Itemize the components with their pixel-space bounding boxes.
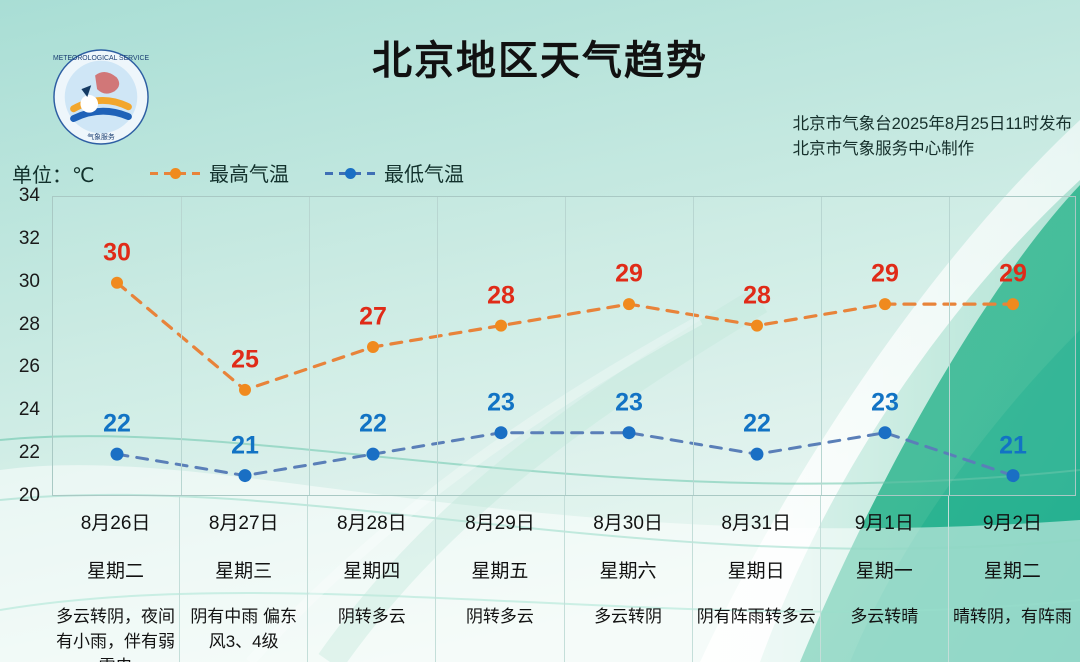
y-axis-tick: 20	[19, 485, 40, 507]
data-point-low	[239, 469, 252, 482]
y-axis-tick: 30	[19, 271, 40, 293]
vertical-gridline	[821, 197, 822, 495]
unit-label: 单位：℃	[12, 159, 94, 188]
data-label-high: 29	[871, 260, 899, 289]
data-point-low	[111, 448, 124, 461]
data-point-low	[751, 448, 764, 461]
chart-plot-area: 30252728292829292221222323222321	[52, 196, 1076, 496]
svg-text:气象服务: 气象服务	[87, 132, 115, 141]
legend-label-low: 最低气温	[384, 158, 464, 187]
legend-item-low: 最低气温	[325, 158, 464, 187]
data-point-high	[367, 341, 379, 353]
forecast-column: 9月1日星期一多云转晴	[821, 496, 949, 662]
data-label-high: 30	[103, 238, 131, 267]
y-axis: 2022242628303234	[0, 196, 48, 496]
data-label-low: 22	[359, 410, 387, 439]
page-title: 北京地区天气趋势	[0, 28, 1080, 86]
data-label-low: 21	[231, 431, 259, 460]
data-point-high	[495, 320, 507, 332]
vertical-gridline	[437, 197, 438, 495]
legend-swatch-high-icon	[150, 166, 202, 180]
vertical-gridline	[565, 197, 566, 495]
y-axis-tick: 34	[19, 185, 40, 207]
data-point-low	[1007, 469, 1020, 482]
header: METEOROLOGICAL SERVICE 气象服务 北京地区天气趋势 北京市…	[0, 0, 1080, 150]
data-label-high: 25	[231, 345, 259, 374]
data-point-low	[367, 448, 380, 461]
data-point-low	[623, 426, 636, 439]
forecast-date: 9月1日	[855, 508, 914, 535]
forecast-description: 阴转多云	[462, 604, 538, 629]
legend-swatch-low-icon	[325, 166, 377, 180]
issued-by-text: 北京市气象台2025年8月25日11时发布	[793, 112, 1072, 137]
data-point-high	[239, 384, 251, 396]
forecast-weekday: 星期二	[984, 556, 1041, 583]
data-label-high: 28	[743, 281, 771, 310]
data-label-low: 23	[615, 388, 643, 417]
data-label-low: 22	[743, 410, 771, 439]
y-axis-tick: 28	[19, 314, 40, 336]
forecast-column: 8月31日星期日阴有阵雨转多云	[693, 496, 821, 662]
forecast-date: 8月27日	[209, 508, 279, 535]
forecast-date: 8月30日	[593, 508, 663, 535]
vertical-gridline	[309, 197, 310, 495]
weather-trend-chart-page: METEOROLOGICAL SERVICE 气象服务 北京地区天气趋势 北京市…	[0, 0, 1080, 662]
data-point-high	[1007, 298, 1019, 310]
forecast-date: 8月26日	[81, 508, 151, 535]
forecast-weekday: 星期四	[343, 556, 400, 583]
forecast-column: 8月26日星期二多云转阴，夜间有小雨，伴有弱雷电	[52, 496, 180, 662]
vertical-gridline	[181, 197, 182, 495]
forecast-column: 8月30日星期六多云转阴	[565, 496, 693, 662]
data-label-high: 29	[999, 260, 1027, 289]
data-point-high	[751, 320, 763, 332]
forecast-column: 8月28日星期四阴转多云	[308, 496, 436, 662]
forecast-weekday: 星期五	[471, 556, 528, 583]
data-point-high	[623, 298, 635, 310]
legend-label-high: 最高气温	[209, 158, 289, 187]
forecast-description: 多云转晴	[846, 604, 922, 629]
y-axis-tick: 26	[19, 356, 40, 378]
data-label-low: 23	[487, 388, 515, 417]
data-label-low: 21	[999, 431, 1027, 460]
forecast-weekday: 星期六	[600, 556, 657, 583]
forecast-description: 阴有中雨 偏东风3、4级	[180, 604, 307, 654]
vertical-gridline	[949, 197, 950, 495]
forecast-column: 8月29日星期五阴转多云	[436, 496, 564, 662]
y-axis-tick: 24	[19, 399, 40, 421]
forecast-description: 多云转阴，夜间有小雨，伴有弱雷电	[52, 604, 179, 662]
data-label-high: 28	[487, 281, 515, 310]
y-axis-tick: 22	[19, 442, 40, 464]
forecast-description: 阴转多云	[334, 604, 410, 629]
forecast-date: 8月28日	[337, 508, 407, 535]
vertical-gridline	[693, 197, 694, 495]
data-point-high	[111, 277, 123, 289]
forecast-description: 晴转阴，有阵雨	[949, 604, 1076, 629]
forecast-weekday: 星期一	[856, 556, 913, 583]
data-point-low	[879, 426, 892, 439]
attribution: 北京市气象台2025年8月25日11时发布 北京市气象服务中心制作	[793, 112, 1072, 162]
data-point-high	[879, 298, 891, 310]
forecast-column: 9月2日星期二晴转阴，有阵雨	[949, 496, 1076, 662]
forecast-table: 8月26日星期二多云转阴，夜间有小雨，伴有弱雷电8月27日星期三阴有中雨 偏东风…	[52, 496, 1076, 662]
legend: 最高气温 最低气温	[150, 158, 464, 187]
legend-item-high: 最高气温	[150, 158, 289, 187]
forecast-weekday: 星期日	[728, 556, 785, 583]
forecast-date: 8月29日	[465, 508, 535, 535]
data-label-low: 22	[103, 410, 131, 439]
produced-by-text: 北京市气象服务中心制作	[793, 137, 1072, 162]
forecast-date: 9月2日	[983, 508, 1042, 535]
data-label-high: 27	[359, 303, 387, 332]
y-axis-tick: 32	[19, 228, 40, 250]
forecast-description: 多云转阴	[590, 604, 666, 629]
forecast-date: 8月31日	[721, 508, 791, 535]
data-label-high: 29	[615, 260, 643, 289]
forecast-weekday: 星期三	[215, 556, 272, 583]
data-label-low: 23	[871, 388, 899, 417]
forecast-description: 阴有阵雨转多云	[693, 604, 820, 629]
forecast-column: 8月27日星期三阴有中雨 偏东风3、4级	[180, 496, 308, 662]
data-point-low	[495, 426, 508, 439]
forecast-weekday: 星期二	[87, 556, 144, 583]
